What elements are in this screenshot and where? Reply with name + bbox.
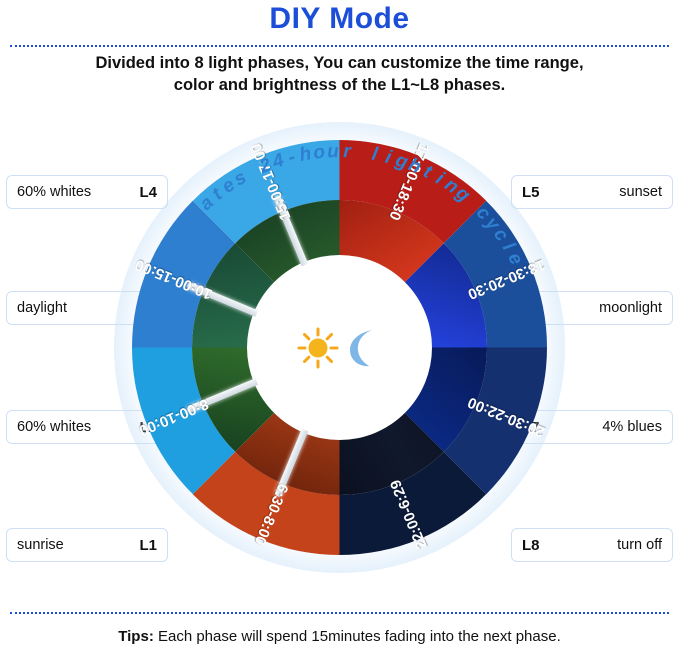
tips-text: Tips: Each phase will spend 15minutes fa…: [0, 628, 679, 645]
subtitle-line-2: color and brightness of the L1~L8 phases…: [0, 74, 679, 96]
tips-label: Tips:: [118, 628, 154, 645]
phase-label-l7-text: 4% blues: [602, 419, 662, 435]
phase-label-l5-text: sunset: [619, 184, 662, 200]
sun-icon: [296, 326, 340, 370]
moon-icon: [344, 326, 384, 370]
divider-top: [10, 45, 669, 47]
page-title: DIY Mode: [0, 2, 679, 36]
wheel-hub: [250, 258, 429, 437]
page-subtitle: Divided into 8 light phases, You can cus…: [0, 52, 679, 96]
phase-label-l6-text: moonlight: [599, 300, 662, 316]
subtitle-line-1: Divided into 8 light phases, You can cus…: [0, 52, 679, 74]
divider-bottom: [10, 612, 669, 614]
lighting-cycle-wheel: 17:00-18:3018:30-20:3020:30-22:0022:00-6…: [132, 140, 547, 555]
phase-label-l8-text: turn off: [617, 537, 662, 553]
phase-label-l2-text: 60% whites: [17, 419, 91, 435]
phase-label-l4-text: 60% whites: [17, 184, 91, 200]
phase-label-l3-text: daylight: [17, 300, 67, 316]
tips-body: Each phase will spend 15minutes fading i…: [154, 628, 561, 645]
phase-label-l1-text: sunrise: [17, 537, 64, 553]
